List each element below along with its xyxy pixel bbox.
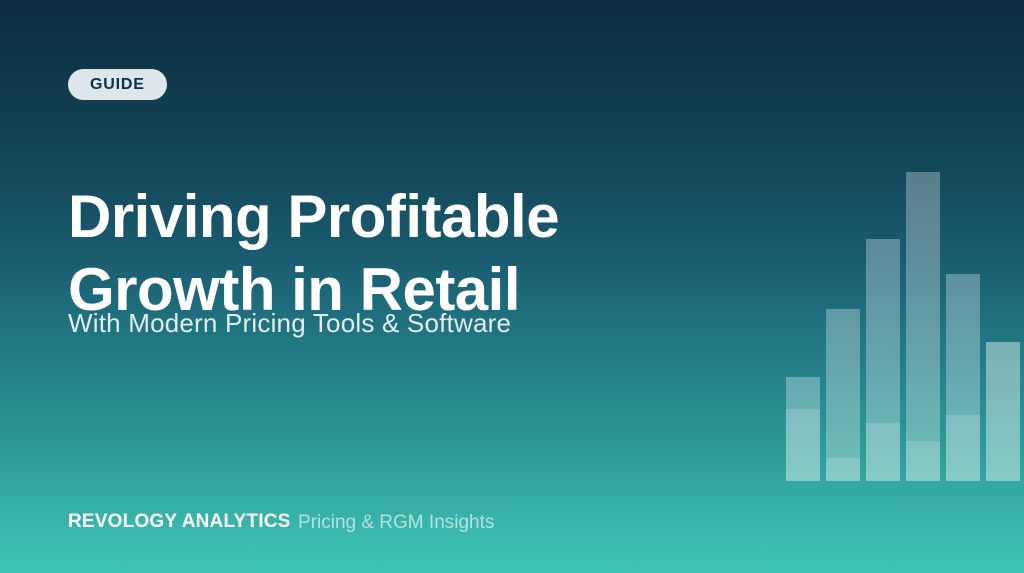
footer: REVOLOGY ANALYTICS Pricing & RGM Insight…: [68, 511, 948, 539]
chart-bar: [786, 377, 820, 481]
chart-bar-lower-segment: [946, 415, 980, 481]
chart-bar: [826, 309, 860, 481]
decorative-bar-chart: [786, 150, 1022, 481]
guide-badge: GUIDE: [68, 69, 167, 100]
page-subtitle: With Modern Pricing Tools & Software: [68, 308, 511, 339]
brand-name: REVOLOGY ANALYTICS: [68, 511, 291, 533]
chart-bar-lower-segment: [826, 458, 860, 481]
page-title-line-1: Driving Profitable: [68, 180, 768, 253]
chart-bar: [866, 239, 900, 481]
chart-bar: [986, 342, 1020, 481]
chart-bar-lower-segment: [786, 409, 820, 481]
chart-bar-lower-segment: [906, 441, 940, 481]
guide-cover: GUIDE Driving Profitable Growth in Retai…: [0, 0, 1024, 573]
guide-badge-label: GUIDE: [90, 76, 145, 94]
chart-bar: [906, 172, 940, 481]
chart-bar: [946, 274, 980, 481]
chart-bar-lower-segment: [986, 342, 1020, 481]
chart-bar-lower-segment: [866, 423, 900, 481]
page-title: Driving Profitable Growth in Retail: [68, 180, 768, 326]
footer-tagline: Pricing & RGM Insights: [298, 512, 494, 534]
